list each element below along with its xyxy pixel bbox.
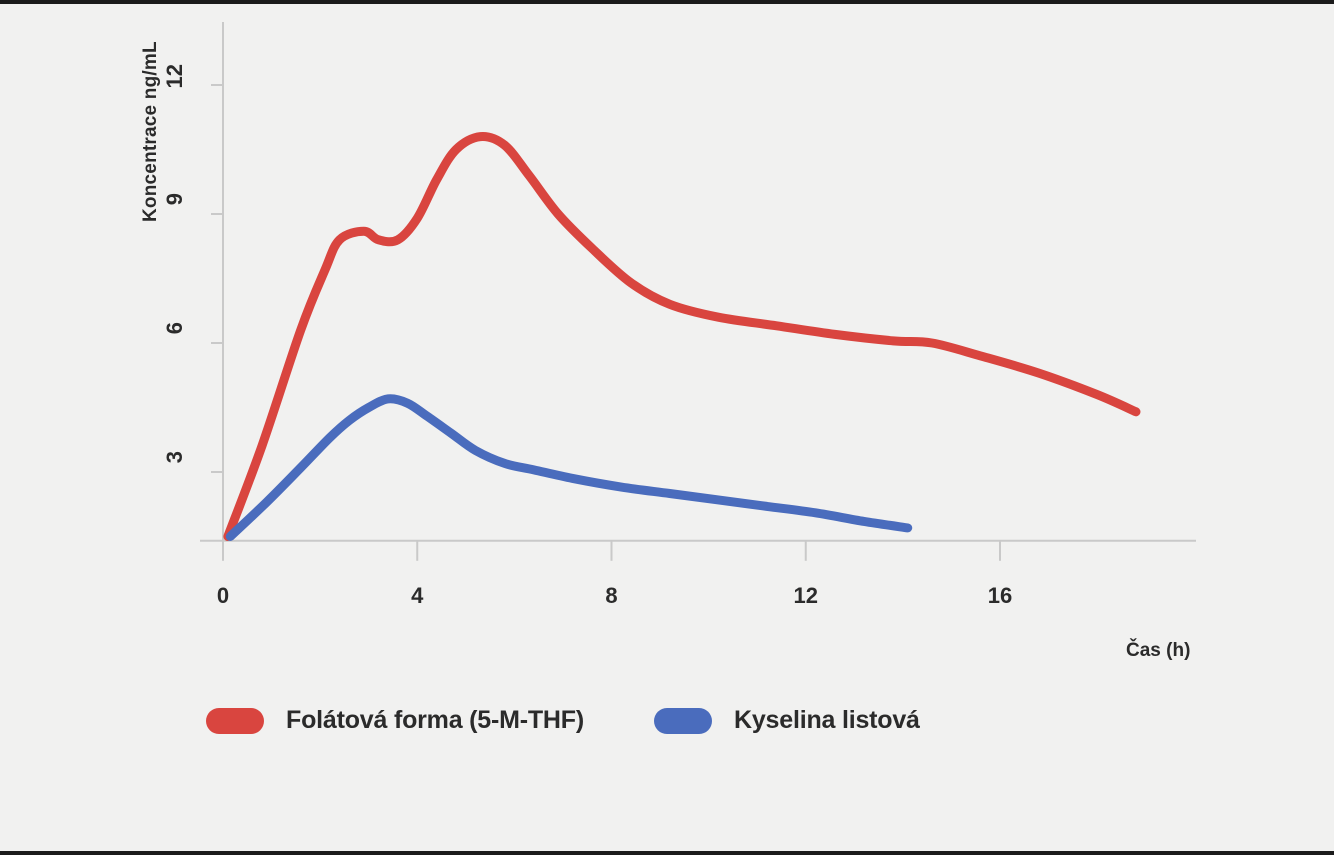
series-group bbox=[228, 136, 1136, 536]
y-axis-title: Koncentrace ng/mL bbox=[140, 0, 162, 222]
x-tick-label: 0 bbox=[193, 583, 253, 609]
legend-item-folic-acid[interactable]: Kyselina listová bbox=[654, 706, 920, 735]
legend-label-folic-acid: Kyselina listová bbox=[734, 706, 920, 735]
x-tick-label: 12 bbox=[776, 583, 836, 609]
legend-swatch-red bbox=[206, 708, 264, 734]
x-axis-title: Čas (h) bbox=[1126, 640, 1190, 662]
chart-legend: Folátová forma (5-M-THF) Kyselina listov… bbox=[206, 706, 920, 735]
y-tick-label: 6 bbox=[162, 322, 188, 362]
axis-group bbox=[200, 22, 1196, 561]
y-tick-label: 3 bbox=[162, 451, 188, 491]
y-tick-label: 9 bbox=[162, 193, 188, 233]
x-tick-label: 8 bbox=[582, 583, 642, 609]
series-line-folate bbox=[228, 136, 1136, 536]
x-tick-label: 16 bbox=[970, 583, 1030, 609]
y-tick-label: 12 bbox=[162, 64, 188, 104]
legend-swatch-blue bbox=[654, 708, 712, 734]
legend-item-folate[interactable]: Folátová forma (5-M-THF) bbox=[206, 706, 584, 735]
series-line-folic-acid bbox=[230, 399, 907, 537]
chart-container: Koncentrace ng/mL Čas (h) 369120481216 F… bbox=[0, 0, 1334, 855]
x-tick-label: 4 bbox=[387, 583, 447, 609]
legend-label-folate: Folátová forma (5-M-THF) bbox=[286, 706, 584, 735]
